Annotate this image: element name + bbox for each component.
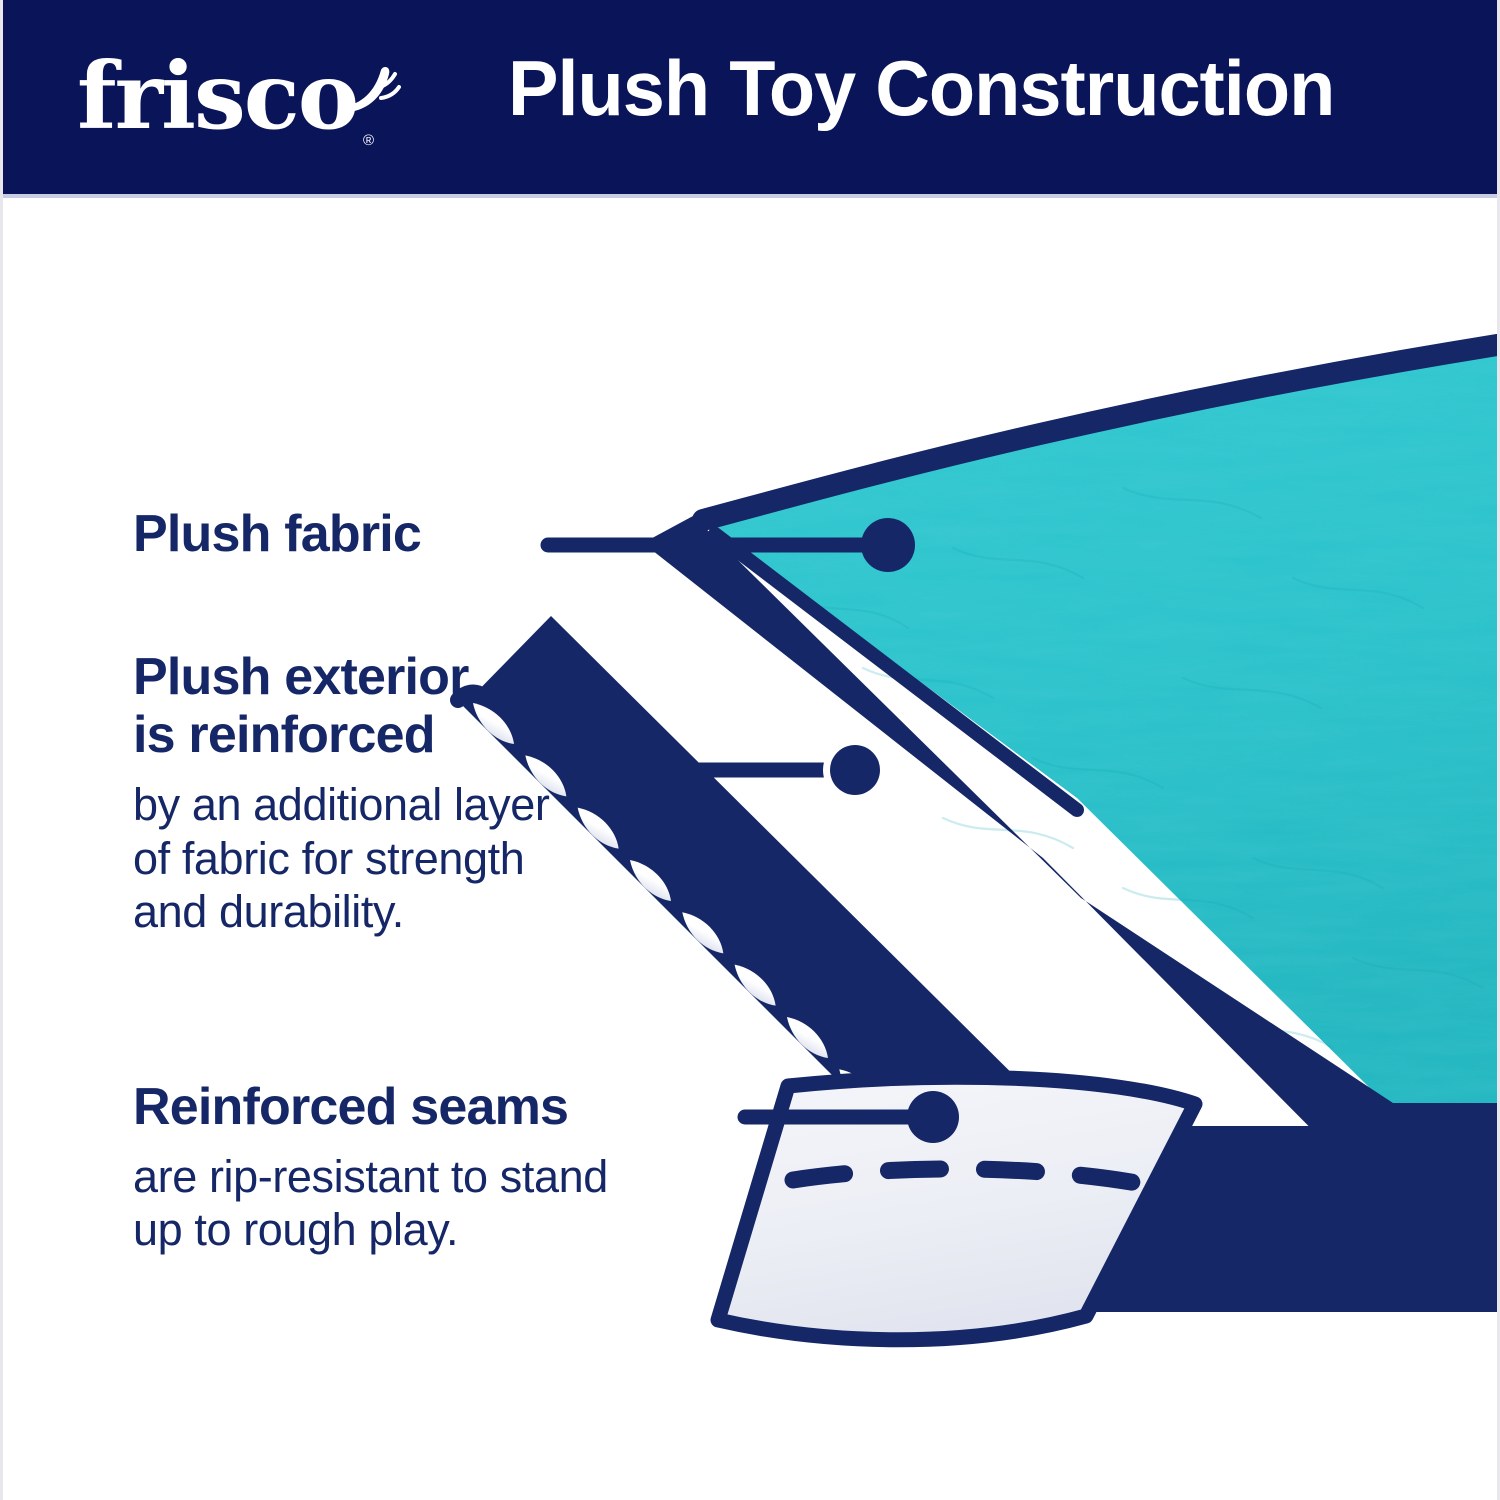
- callout-reinforced-seams: Reinforced seams are rip-resistant to st…: [133, 1078, 608, 1256]
- header-bar: frisco ® Plush Toy Construction: [3, 0, 1500, 198]
- callout-plush-fabric-heading: Plush fabric: [133, 505, 421, 563]
- callout-plush-exterior-heading: Plush exterior is reinforced: [133, 648, 549, 764]
- callout-reinforced-seams-body: are rip-resistant to stand up to rough p…: [133, 1150, 608, 1256]
- brand-wordmark: frisco: [77, 50, 357, 142]
- callout-dot-plush-fabric: [861, 518, 915, 572]
- swoosh-icon: [331, 64, 401, 124]
- callout-dot-plush-exterior: [830, 745, 880, 795]
- callout-plush-exterior: Plush exterior is reinforced by an addit…: [133, 648, 549, 938]
- callout-reinforced-seams-heading: Reinforced seams: [133, 1078, 608, 1136]
- page-title: Plush Toy Construction: [508, 46, 1334, 132]
- registered-trademark-icon: ®: [363, 132, 374, 149]
- callout-plush-fabric: Plush fabric: [133, 505, 421, 563]
- frisco-logo: frisco ®: [77, 44, 387, 154]
- infographic-root: frisco ® Plush Toy Construction: [0, 0, 1500, 1500]
- callout-dot-reinforced-seams: [907, 1091, 959, 1143]
- callout-plush-exterior-body: by an additional layer of fabric for str…: [133, 778, 549, 937]
